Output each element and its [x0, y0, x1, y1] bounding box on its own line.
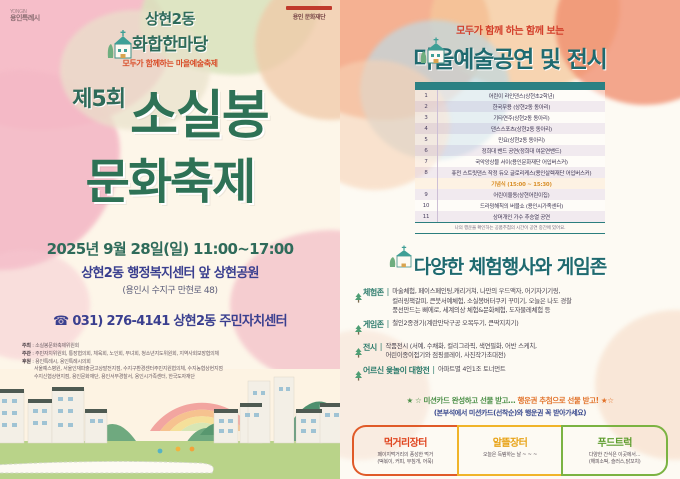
program-row-number [415, 178, 438, 189]
promo-text-orange: 행운권 추첨으로 선물 받고! ★☆ [518, 396, 614, 405]
program-row-name: 민요(상현2동 동아리) [438, 134, 606, 145]
left-panel: YONGIN 용인특례시 용인 문화재단 상현2동 화합한마당 모두가 함께하는… [0, 0, 340, 479]
kicker-subtitle: 모두가 함께하는 마을예술축제 [0, 58, 340, 69]
program-row-number: 5 [415, 134, 438, 145]
program-row-name: 기념식 (15:00 ~ 15:30) [438, 178, 606, 189]
contact-line: ☎ 031) 276-4141 상현2동 주민자치센터 [0, 310, 340, 329]
experience-item: 체험존|마술체험, 페이스페인팅,캐리거쳐, 나만의 우드액자, 어기자기기링,… [354, 287, 680, 316]
program-row: 5민요(상현2동 동아리) [415, 134, 605, 145]
program-row-number: 4 [415, 123, 438, 134]
sponsor-line: 수지신협상현지점, 용인문화재단, 용인서부경찰서, 용인시가족센터, 한국도자… [34, 374, 340, 382]
program-row: 4댄스스포츠(상현2동 동아리) [415, 123, 605, 134]
program-row: 10드라밍해칙의 버블쇼 (용인시가족센터) [415, 200, 605, 211]
program-row: 7국악앙상블 서이(용인문화재단 어입버스커) [415, 156, 605, 167]
yongin-city-logo-text: 용인특례시 [10, 15, 40, 22]
program-row-number: 11 [415, 211, 438, 222]
church-icon-small [418, 36, 448, 66]
program-row-name: 정희대 밴드 공연(정희대 여운연밴드) [438, 145, 606, 156]
program-row-name: 한국무용 (상현2동 동아리) [438, 101, 606, 112]
program-row: 기념식 (15:00 ~ 15:30) [415, 178, 605, 189]
program-row: 9어린이율동(상현어린이집) [415, 189, 605, 200]
edition-label: 제5회 [72, 81, 125, 113]
market-box-title: 먹거리장터 [356, 434, 455, 449]
event-venue: 상현2동 행정복지센터 앞 상현공원 [0, 262, 340, 281]
program-row-name: 어린이 라인댄스(상현초2학년) [438, 90, 606, 101]
contact-number: 031) 276-4141 상현2동 주민자치센터 [72, 314, 287, 329]
market-box: 푸드트럭다양한 간식은 이곳에서…(해피소떡, 슬러스,닭꼬치) [561, 425, 668, 477]
market-box-detail: 오늘은 득템하는 날 ~ ~ ~ [461, 452, 560, 459]
festival-poster: YONGIN 용인특례시 용인 문화재단 상현2동 화합한마당 모두가 함께하는… [0, 0, 680, 479]
tree-bullet-icon [354, 365, 363, 385]
program-row-name: 드라밍해칙의 버블쇼 (용인시가족센터) [438, 200, 606, 211]
market-box-detail: 다양한 간식은 이곳에서…(해피소떡, 슬러스,닭꼬치) [565, 452, 664, 467]
experience-detail-line: 컬러링책갈피, 큰붓서예체험, 소실봉버터쿠키 꾸미기, 오늘은 나도 경찰 [392, 297, 571, 307]
program-title: 마을예술공연 및 전시 [340, 40, 680, 74]
experience-detail-line: 풍선만드는 삐에로, 세계의상 체험&문화체험, 도자물레체험 등 [392, 306, 571, 316]
program-kicker: 모두가 함께 하는 함께 보는 [340, 22, 680, 37]
program-table: 1어린이 라인댄스(상현초2학년)2한국무용 (상현2동 동아리)3기타연주(상… [415, 82, 605, 223]
experience-item: 게임존|철인2종경기(계란만닥구공 오목두기, 큰딱지치기) [354, 319, 680, 339]
program-row-number: 1 [415, 90, 438, 101]
program-row-name: 어린이율동(상현어린이집) [438, 189, 606, 200]
event-datetime: 2025년 9월 28일(일) 11:00~17:00 [0, 238, 340, 259]
program-row-number: 7 [415, 156, 438, 167]
foundation-logo-text: 용인 문화재단 [286, 12, 332, 21]
experience-header: 다양한 체험행사와 게임존 [340, 252, 680, 279]
foundation-logo-bar [286, 6, 332, 10]
experience-separator: | [387, 287, 390, 296]
experience-separator: | [380, 342, 383, 351]
title-line-2: 문화축제 [0, 142, 340, 212]
experience-label: 게임존 [363, 319, 384, 330]
credit-label: 후원 [22, 359, 31, 365]
yongin-city-logo: YONGIN 용인특례시 [10, 10, 40, 23]
church-icon [104, 28, 134, 62]
program-row-name: 기타연주(상현2동 동아리) [438, 112, 606, 123]
credit-line: 주최 : 소실봉문화축제위원회 [22, 343, 340, 351]
program-row-number: 3 [415, 112, 438, 123]
program-row: 6정희대 밴드 공연(정희대 여운연밴드) [415, 145, 605, 156]
program-row: 3기타연주(상현2동 동아리) [415, 112, 605, 123]
program-row-number: 6 [415, 145, 438, 156]
credit-text: 용인특례시, 용인특례시의회 [35, 359, 91, 365]
program-row-number: 8 [415, 167, 438, 178]
promo-block: ★ ☆ 미션카드 완성하고 선물 받고… 행운권 추첨으로 선물 받고! ★☆ … [340, 395, 680, 418]
title-line-1: 소실봉 [130, 73, 268, 148]
experience-detail-line: 어린이종이접기와 점핑클레이, 사진작가초대전) [385, 351, 536, 361]
telephone-icon: ☎ [53, 314, 69, 329]
program-row-name: 상머개인 가수 추승열 공연 [438, 211, 606, 222]
market-box-detail-line: 다양한 간식은 이곳에서… [565, 452, 664, 459]
experience-item: 어르신 윷놀이 대항전|아파트별 4인1조 토너먼트 [354, 365, 680, 385]
market-box-detail-line: (해피소떡, 슬러스,닭꼬치) [565, 459, 664, 466]
program-row-number: 10 [415, 200, 438, 211]
experience-detail: 마술체험, 페이스페인팅,캐리거쳐, 나만의 우드액자, 어기자기기링,컬러링책… [392, 287, 571, 316]
program-row: 1어린이 라인댄스(상현초2학년) [415, 90, 605, 101]
tree-bullet-icon [354, 342, 363, 362]
experience-label: 전시 [363, 342, 377, 353]
market-box-detail: 페이지먹거리의 풍성한 먹거(떡볶이, 커피, 부침개, 어묵) [356, 452, 455, 467]
program-row-name: 퓨전 스트릿댄스 작정 듀오 글로리케스(용인살렉재단 어입버스커) [438, 167, 606, 178]
program-table-body: 1어린이 라인댄스(상현초2학년)2한국무용 (상현2동 동아리)3기타연주(상… [415, 90, 605, 222]
program-table-header-bar [415, 83, 605, 90]
experience-detail: 작품전시 (서예, 수채화, 컬리그라픽, 색연필화, 어반 스케치,어린이종이… [385, 342, 536, 361]
promo-text-green: ★ ☆ 미션카드 완성하고 선물 받고… [406, 396, 515, 405]
sponsor-line: 서울예스병원, 서울인재파출금고상발전지점, 수지구환경센터주민지원협의체, 수… [34, 366, 340, 374]
kicker-harmony: 화합한마당 [0, 30, 340, 55]
program-row-name: 국악앙상블 서이(용인문화재단 어입버스커) [438, 156, 606, 167]
market-box: 알뜰장터오늘은 득템하는 날 ~ ~ ~ [457, 425, 562, 477]
program-note: 나의 행운을 확인하는 공품추첨의 시간이 공연 중간에 있어요. [415, 225, 605, 234]
experience-detail: 아파트별 4인1조 토너먼트 [438, 365, 506, 375]
experience-detail: 철인2종경기(계란만닥구공 오목두기, 큰딱지치기) [392, 319, 518, 329]
market-box-detail-line: 오늘은 득템하는 날 ~ ~ ~ [461, 452, 560, 459]
promo-line-1: ★ ☆ 미션카드 완성하고 선물 받고… 행운권 추첨으로 선물 받고! ★☆ [340, 395, 680, 406]
program-row: 2한국무용 (상현2동 동아리) [415, 101, 605, 112]
experience-detail-line: 철인2종경기(계란만닥구공 오목두기, 큰딱지치기) [392, 319, 518, 329]
event-when-where: 2025년 9월 28일(일) 11:00~17:00 상현2동 행정복지센터 … [0, 238, 340, 296]
experience-item: 전시|작품전시 (서예, 수채화, 컬리그라픽, 색연필화, 어반 스케치,어린… [354, 342, 680, 362]
market-boxes: 먹거리장터페이지먹거리의 풍성한 먹거(떡볶이, 커피, 부침개, 어묵)알뜰장… [352, 425, 668, 477]
market-box-title: 알뜰장터 [461, 434, 560, 449]
program-row-name: 댄스스포츠(상현2동 동아리) [438, 123, 606, 134]
village-illustration [0, 369, 340, 479]
yongin-city-logo-sub: YONGIN [10, 10, 40, 15]
experience-separator: | [432, 365, 435, 374]
right-header: 모두가 함께 하는 함께 보는 마을예술공연 및 전시 [340, 0, 680, 74]
credit-label: 주최 [22, 343, 31, 349]
promo-line-2: (본부석에서 미션카드(선착순)와 행운권 꼭 받아가세요) [340, 408, 680, 418]
credits-block: 주최 : 소실봉문화축제위원회 주관 : 주민자치위원회, 통장협의회, 체육회… [22, 343, 340, 382]
church-icon-tiny [388, 244, 414, 270]
tree-bullet-icon [354, 319, 363, 339]
credit-label: 주관 [22, 351, 31, 357]
credit-text: 주민자치위원회, 통장협의회, 체육회, 노인회, 부녀회, 청소년지도위원회,… [35, 351, 219, 357]
experience-separator: | [387, 319, 390, 328]
experience-detail-line: 작품전시 (서예, 수채화, 컬리그라픽, 색연필화, 어반 스케치, [385, 342, 536, 352]
market-box-title: 푸드트럭 [565, 434, 664, 449]
experience-list: 체험존|마술체험, 페이스페인팅,캐리거쳐, 나만의 우드액자, 어기자기기링,… [354, 287, 680, 385]
program-row-number: 2 [415, 101, 438, 112]
program-row-number: 9 [415, 189, 438, 200]
experience-detail-line: 마술체험, 페이스페인팅,캐리거쳐, 나만의 우드액자, 어기자기기링, [392, 287, 571, 297]
program-row: 11상머개인 가수 추승열 공연 [415, 211, 605, 222]
credit-text: 소실봉문화축제위원회 [35, 343, 79, 349]
experience-detail-line: 아파트별 4인1조 토너먼트 [438, 365, 506, 375]
yongin-foundation-logo: 용인 문화재단 [286, 6, 332, 21]
market-box-detail-line: 페이지먹거리의 풍성한 먹거 [356, 452, 455, 459]
market-box-detail-line: (떡볶이, 커피, 부침개, 어묵) [356, 459, 455, 466]
market-box: 먹거리장터페이지먹거리의 풍성한 먹거(떡볶이, 커피, 부침개, 어묵) [352, 425, 457, 477]
experience-label: 체험존 [363, 287, 384, 298]
tree-bullet-icon [354, 287, 363, 307]
event-address: (용인시 수지구 만현로 48) [0, 283, 340, 296]
program-row: 8퓨전 스트릿댄스 작정 듀오 글로리케스(용인살렉재단 어입버스커) [415, 167, 605, 178]
experience-label: 어르신 윷놀이 대항전 [363, 365, 429, 376]
right-panel: 모두가 함께 하는 함께 보는 마을예술공연 및 전시 1어린이 라인댄스(상현… [340, 0, 680, 479]
credit-line: 주관 : 주민자치위원회, 통장협의회, 체육회, 노인회, 부녀회, 청소년지… [22, 351, 340, 359]
main-title-block: 제5회 소실봉 문화축제 [0, 73, 340, 212]
